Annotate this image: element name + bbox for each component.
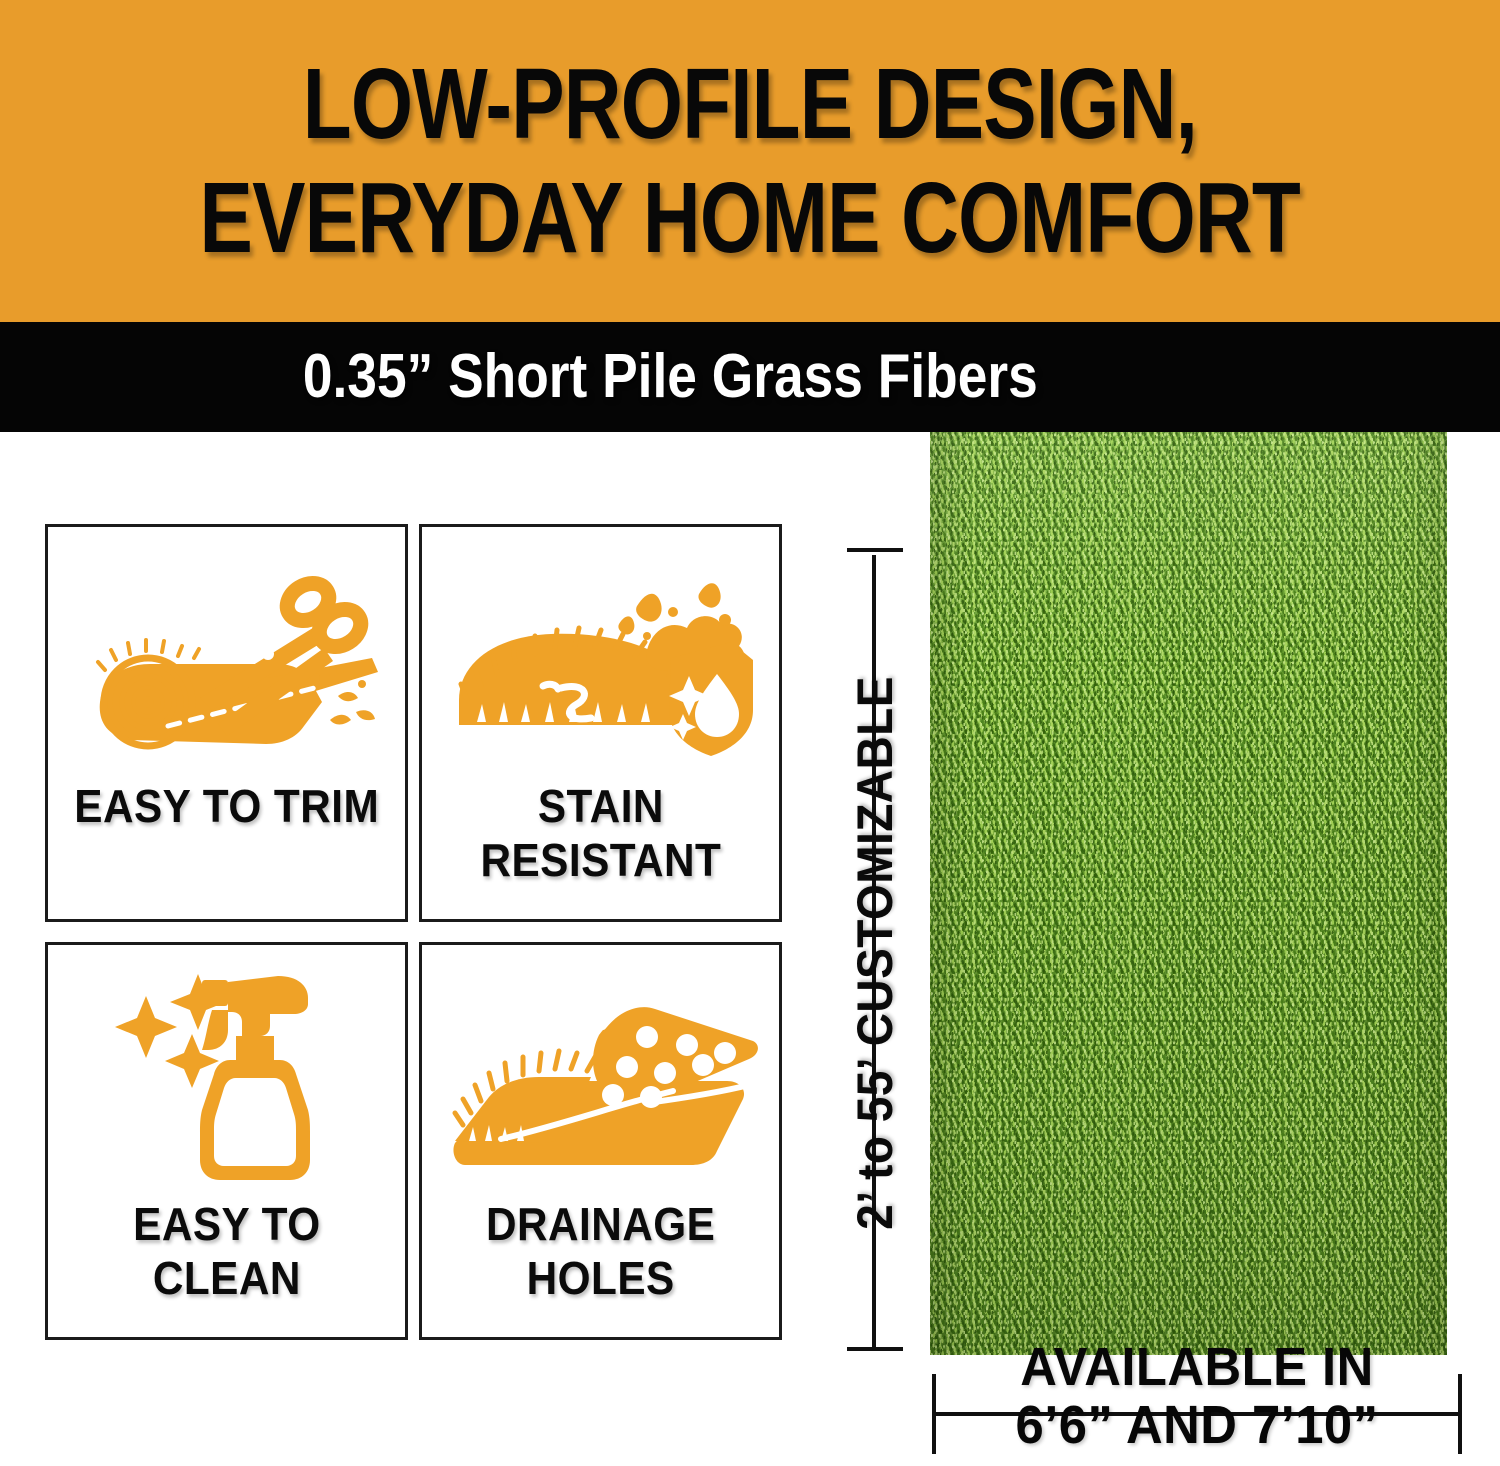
vertical-dimension-label-text: 2’ to 55’ CUSTOMIZABLE	[846, 676, 904, 1230]
horizontal-dimension-annotation: AVAILABLE IN 6’6” AND 7’10”	[930, 1368, 1464, 1460]
feature-card-easy-to-trim: EASY TO TRIM	[45, 524, 408, 922]
subheader-text: 0.35” Short Pile Grass Fibers	[303, 346, 1038, 408]
vertical-dimension-cap-bottom	[847, 1347, 903, 1351]
vertical-dimension-label: 2’ to 55’ CUSTOMIZABLE	[846, 652, 904, 1254]
turf-backing-holes-icon	[422, 945, 779, 1197]
subheader-bar: 0.35” Short Pile Grass Fibers	[0, 322, 1500, 432]
spray-bottle-sparkle-icon	[48, 945, 405, 1197]
artificial-grass-turf-swatch	[930, 432, 1447, 1355]
headline-line-2: EVERYDAY HOME COMFORT	[200, 168, 1300, 268]
turf-roll-scissors-icon	[48, 527, 405, 779]
feature-card-easy-to-clean: EASY TO CLEAN	[45, 942, 408, 1340]
headline-line-1: LOW-PROFILE DESIGN,	[303, 54, 1197, 154]
grass-splash-shield-icon	[422, 527, 779, 779]
grass-shading-overlay	[930, 432, 1447, 1355]
feature-label-stain-resistant: STAIN RESISTANT	[475, 779, 727, 888]
feature-label-easy-to-clean: EASY TO CLEAN	[127, 1197, 326, 1306]
horizontal-dimension-label-line-1: AVAILABLE IN	[946, 1340, 1448, 1394]
horizontal-dimension-labels: AVAILABLE IN 6’6” AND 7’10”	[930, 1340, 1464, 1452]
feature-card-drainage-holes: DRAINAGE HOLES	[419, 942, 782, 1340]
feature-label-easy-to-trim: EASY TO TRIM	[69, 779, 385, 833]
feature-label-drainage-holes: DRAINAGE HOLES	[480, 1197, 720, 1306]
header-banner: LOW-PROFILE DESIGN, EVERYDAY HOME COMFOR…	[0, 0, 1500, 322]
horizontal-dimension-label-line-2: 6’6” AND 7’10”	[946, 1398, 1448, 1452]
feature-grid: EASY TO TRIM	[45, 524, 782, 1340]
feature-card-stain-resistant: STAIN RESISTANT	[419, 524, 782, 922]
vertical-dimension-annotation: 2’ to 55’ CUSTOMIZABLE	[845, 548, 905, 1358]
vertical-dimension-cap-top	[847, 548, 903, 552]
